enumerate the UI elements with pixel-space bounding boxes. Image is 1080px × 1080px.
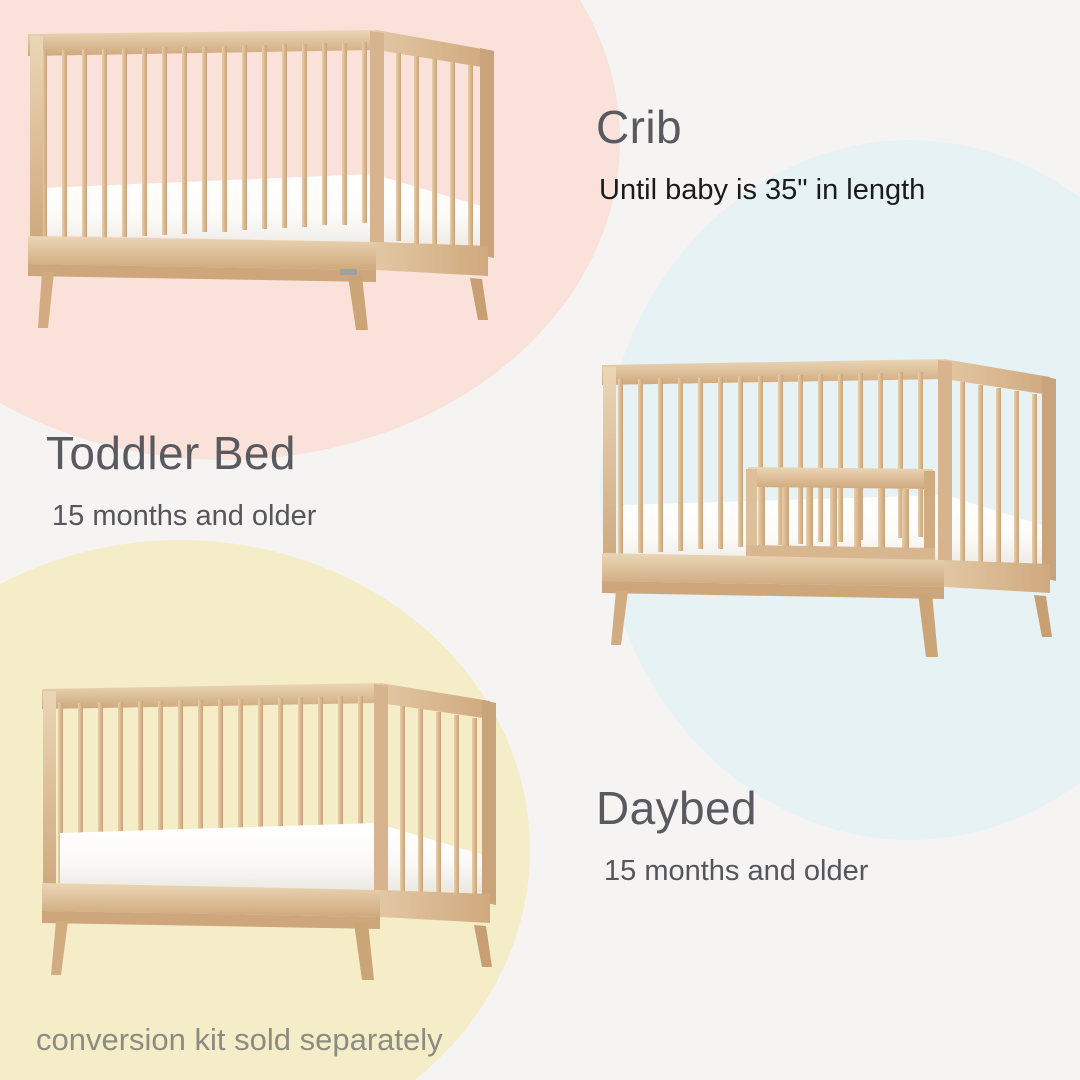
toddler-bed-subtitle: 15 months and older [52, 502, 316, 531]
conversion-kit-footnote: conversion kit sold separately [36, 1024, 443, 1055]
daybed-title: Daybed [596, 785, 868, 831]
crib-illustration [18, 20, 518, 330]
infographic-canvas: Crib Until baby is 35" in length Toddler… [0, 0, 1080, 1080]
daybed-product-image [24, 665, 514, 980]
crib-title: Crib [596, 104, 925, 150]
stage-label-toddler-bed: Toddler Bed 15 months and older [46, 430, 316, 531]
toddler-bed-product-image [588, 345, 1078, 660]
toddler-bed-illustration [588, 345, 1078, 660]
crib-product-image [18, 20, 518, 330]
daybed-subtitle: 15 months and older [604, 857, 868, 886]
toddler-bed-title: Toddler Bed [46, 430, 316, 476]
crib-subtitle: Until baby is 35" in length [599, 176, 925, 205]
daybed-illustration [24, 665, 514, 980]
stage-label-crib: Crib Until baby is 35" in length [596, 104, 925, 205]
stage-label-daybed: Daybed 15 months and older [596, 785, 868, 886]
